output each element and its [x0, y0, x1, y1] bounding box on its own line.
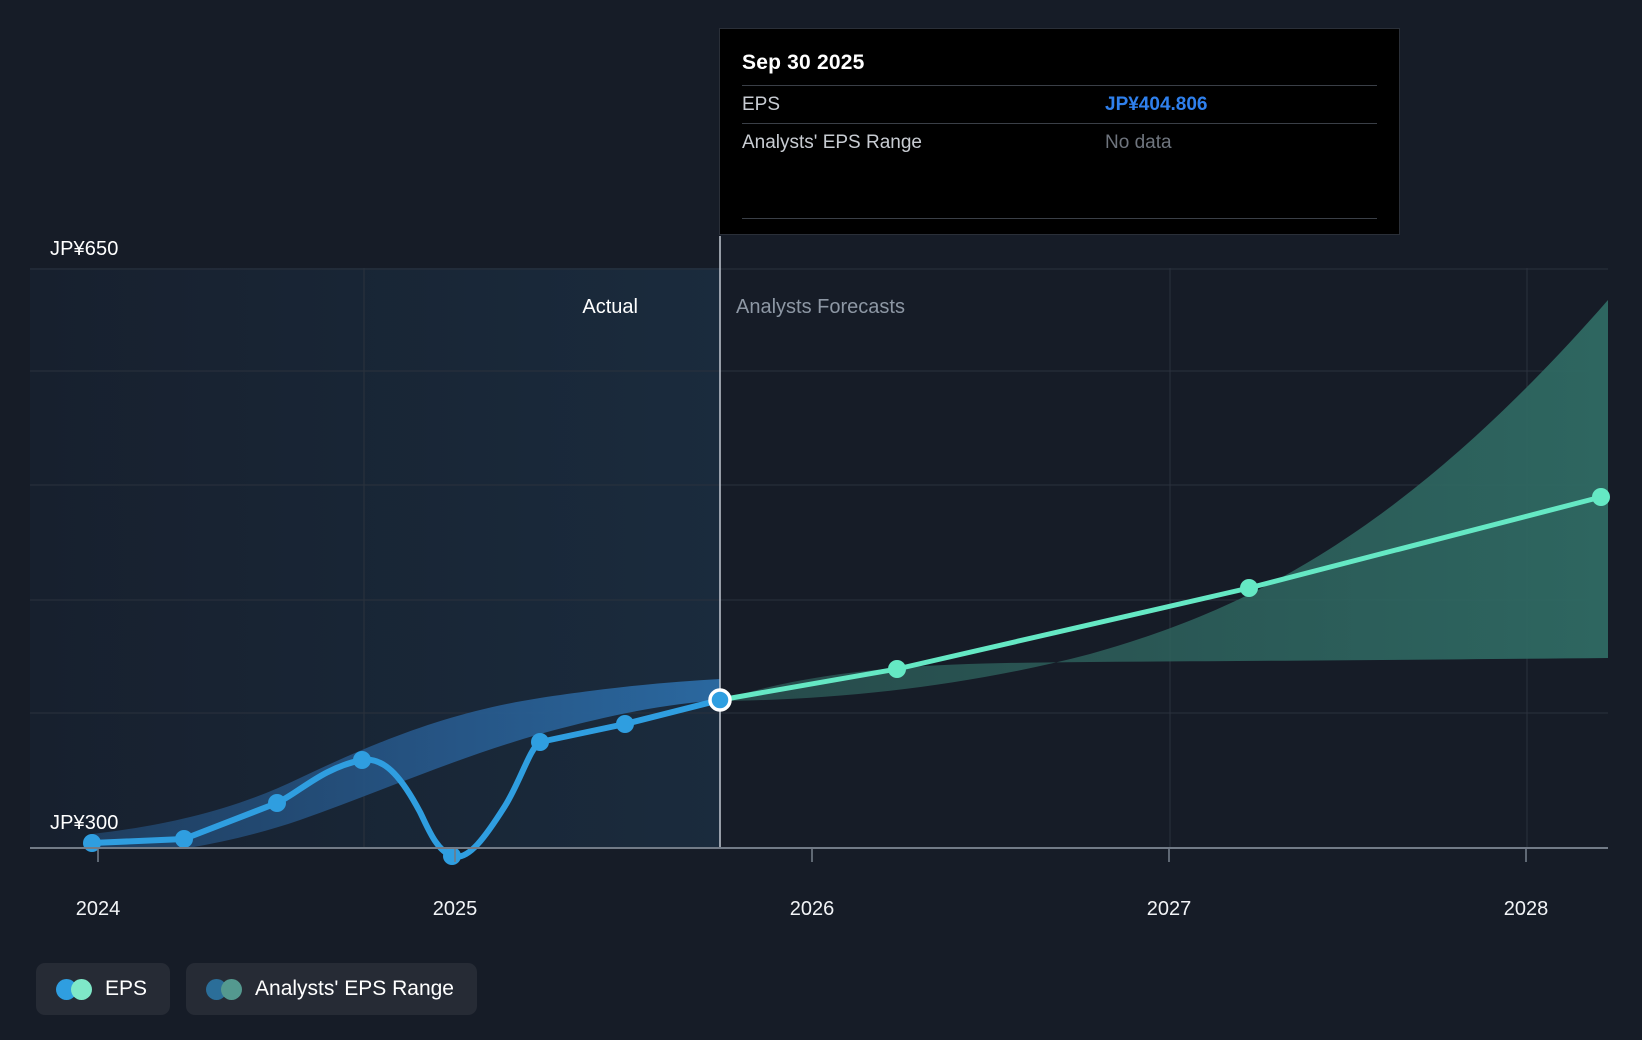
tooltip-row-value: No data — [1105, 132, 1172, 154]
tooltip-date: Sep 30 2025 — [742, 51, 1377, 75]
tooltip-spacer — [742, 161, 1377, 218]
forecast-range-band — [720, 300, 1608, 701]
legend-item-eps[interactable]: EPS — [36, 963, 170, 1015]
chart-root: JP¥650 JP¥300 Actual Analysts Forecasts … — [0, 0, 1642, 1040]
tooltip-footer-rule — [742, 218, 1377, 220]
x-axis-ticks — [98, 848, 1526, 862]
legend-item-label: Analysts' EPS Range — [255, 977, 454, 1001]
legend-item-label: EPS — [105, 977, 147, 1001]
tooltip-row-label: Analysts' EPS Range — [742, 132, 1105, 154]
x-tick-label-2026: 2026 — [790, 898, 835, 921]
legend-swatch-icon — [206, 979, 242, 1000]
phase-label-forecast: Analysts Forecasts — [736, 296, 905, 319]
x-tick-label-2025: 2025 — [433, 898, 478, 921]
legend-swatch-icon — [56, 979, 92, 1000]
tooltip-row-eps: EPS JP¥404.806 — [742, 85, 1377, 123]
y-axis-label-bottom: JP¥300 — [50, 812, 118, 835]
tooltip-row-range: Analysts' EPS Range No data — [742, 123, 1377, 161]
tooltip-row-label: EPS — [742, 94, 1105, 116]
chart-legend: EPS Analysts' EPS Range — [36, 963, 477, 1015]
x-tick-label-2028: 2028 — [1504, 898, 1549, 921]
chart-tooltip: Sep 30 2025 EPS JP¥404.806 Analysts' EPS… — [719, 28, 1400, 235]
x-axis-labels: 2024 2025 2026 2027 2028 — [0, 898, 1642, 930]
y-axis-label-top: JP¥650 — [50, 238, 118, 261]
phase-label-actual: Actual — [582, 296, 638, 319]
tooltip-row-value: JP¥404.806 — [1105, 94, 1208, 116]
legend-item-analysts-eps-range[interactable]: Analysts' EPS Range — [186, 963, 477, 1015]
x-tick-label-2027: 2027 — [1147, 898, 1192, 921]
x-tick-label-2024: 2024 — [76, 898, 121, 921]
hover-point-marker — [710, 690, 730, 710]
